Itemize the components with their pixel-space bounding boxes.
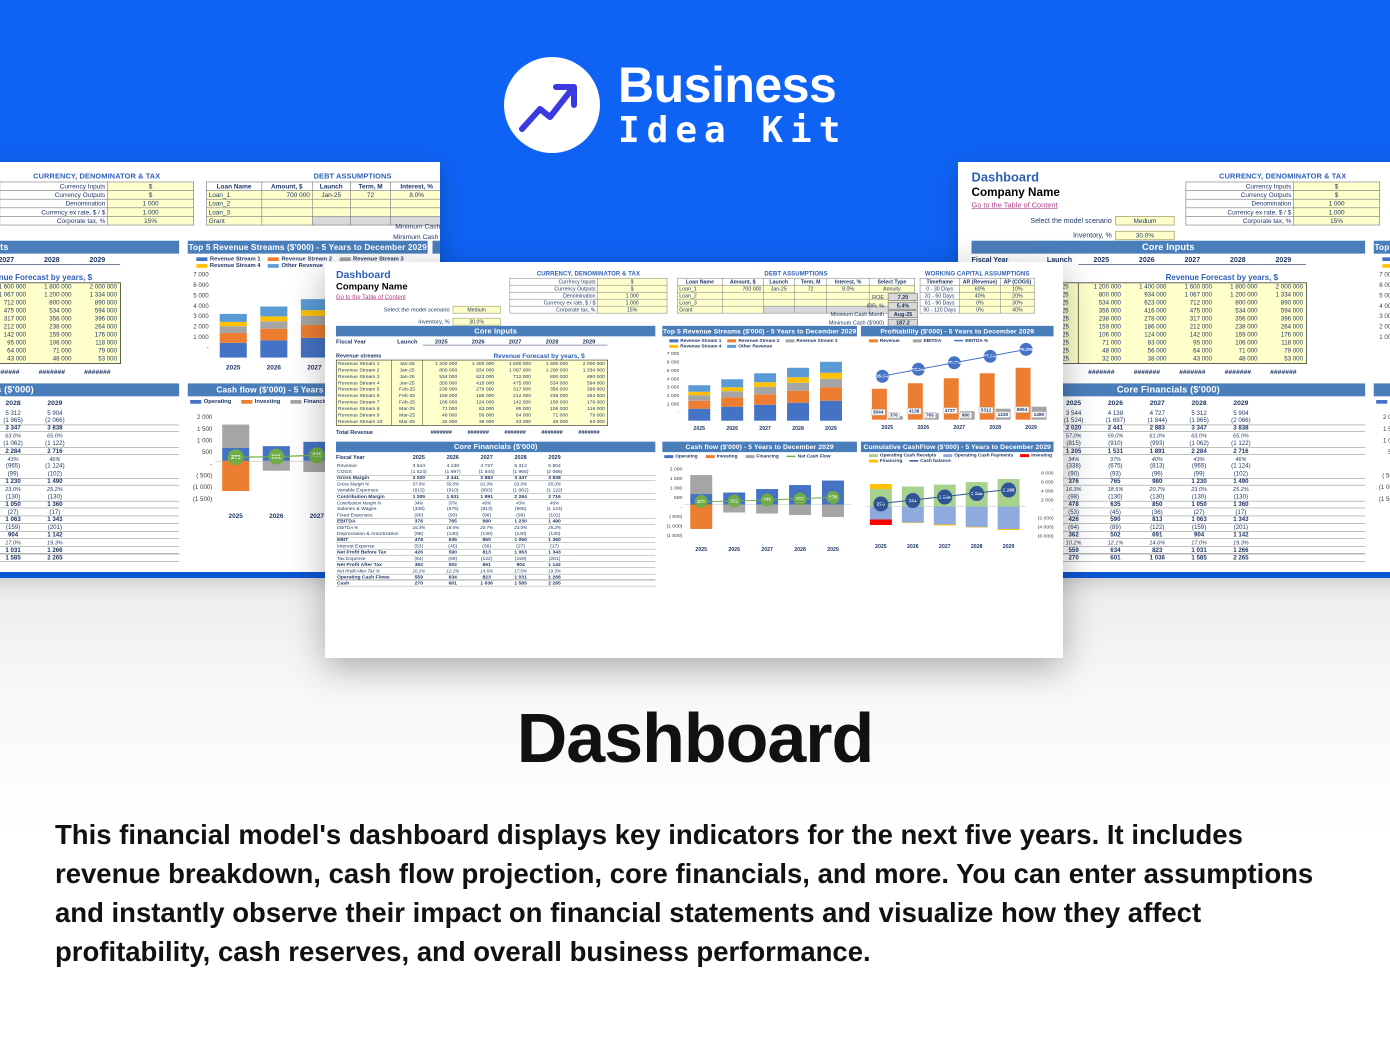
debt-cell[interactable]: 8.0% bbox=[391, 191, 440, 200]
currency-label: Denomination bbox=[0, 199, 107, 208]
total-revenue-label: Total Revenue bbox=[336, 430, 423, 436]
legend-item: Revenue Stream 3 bbox=[785, 338, 837, 343]
currency-value[interactable]: 1 000 bbox=[597, 292, 667, 299]
revenue-cell[interactable]: 712 000 bbox=[1170, 299, 1216, 307]
currency-value[interactable]: $ bbox=[107, 191, 193, 200]
financial-value: 17.0% bbox=[1178, 540, 1220, 546]
wc-cell[interactable]: 40% bbox=[959, 292, 1000, 299]
revenue-cell[interactable]: 159 000 bbox=[29, 331, 75, 339]
table-of-content-link[interactable]: Go to the Table of Content bbox=[336, 293, 406, 300]
debt-cell[interactable] bbox=[794, 306, 827, 313]
revenue-cell[interactable]: 396 000 bbox=[1261, 315, 1307, 323]
net-cash-flow-bubble: 331 bbox=[268, 449, 284, 465]
financial-value: 23.0% bbox=[504, 525, 538, 530]
revenue-cell[interactable]: 71 000 bbox=[29, 347, 75, 355]
column-header: Term, M bbox=[794, 278, 827, 285]
financial-value: 5 904 bbox=[1220, 410, 1262, 417]
profitability-chart: 354437616.3%2025413876518.5%202647279802… bbox=[861, 350, 1054, 437]
revenue-cell[interactable]: 800 000 bbox=[1079, 291, 1125, 299]
year-header: 2027 bbox=[0, 257, 29, 265]
debt-cell[interactable] bbox=[722, 292, 763, 299]
debt-cell[interactable]: Jan-25 bbox=[763, 285, 794, 292]
revenue-cell[interactable]: 53 000 bbox=[1261, 355, 1307, 363]
revenue-cell[interactable]: 2 000 000 bbox=[75, 283, 121, 291]
financial-value: (201) bbox=[538, 556, 572, 561]
row-label: Salaries & Wages bbox=[336, 506, 402, 511]
debt-cell[interactable]: 700 000 bbox=[262, 191, 312, 200]
financial-value: 1 360 bbox=[538, 537, 572, 542]
revenue-cell[interactable]: 356 000 bbox=[1079, 307, 1125, 315]
revenue-cell[interactable]: 712 000 bbox=[0, 299, 29, 307]
revenue-cell[interactable]: 53 000 bbox=[571, 419, 608, 425]
revenue-cell[interactable]: 212 000 bbox=[1170, 323, 1216, 331]
wc-cell[interactable]: 60% bbox=[959, 285, 1000, 292]
kpi-value: 5.4% bbox=[888, 302, 918, 309]
y-axis-tick: 7 000 bbox=[1374, 271, 1390, 278]
financial-value: (130) bbox=[1220, 493, 1262, 500]
legend-label: EBITDA % bbox=[965, 338, 988, 343]
financial-value: 3 838 bbox=[538, 475, 572, 480]
revenue-cell[interactable]: 800 000 bbox=[1215, 299, 1261, 307]
revenue-cell[interactable]: 106 000 bbox=[1215, 339, 1261, 347]
top5-revenue-band: Top 5 Revenue Streams ($'000) - 5 Years … bbox=[188, 241, 428, 254]
revenue-cell[interactable]: 623 000 bbox=[1124, 299, 1170, 307]
legend-item: Investing bbox=[706, 454, 738, 459]
legend-item: EBITDA % bbox=[954, 338, 988, 343]
revenue-cell[interactable]: 48 000 bbox=[1079, 347, 1125, 355]
revenue-cell[interactable]: 159 000 bbox=[1079, 323, 1125, 331]
revenue-cell[interactable]: 475 000 bbox=[1170, 307, 1216, 315]
core-financials-year-row: Fiscal Year20252026202720282029 bbox=[0, 399, 76, 406]
revenue-cell[interactable]: 48 000 bbox=[1215, 355, 1261, 363]
table-row: Denomination1 000 bbox=[510, 292, 667, 299]
total-revenue-value: ####### bbox=[1079, 369, 1125, 376]
stacked-bar-segment bbox=[688, 385, 710, 392]
financial-value: 1 343 bbox=[1220, 516, 1262, 523]
column-header: Loan Name bbox=[678, 278, 723, 285]
financial-value: 1 050 bbox=[0, 501, 34, 508]
stacked-bar-segment bbox=[754, 387, 776, 394]
revenue-cell[interactable]: 317 000 bbox=[1170, 315, 1216, 323]
financial-value: (1 524) bbox=[402, 469, 436, 474]
revenue-cell[interactable]: 934 000 bbox=[1124, 291, 1170, 299]
financial-value: (89) bbox=[436, 556, 470, 561]
revenue-cell[interactable]: 64 000 bbox=[1170, 347, 1216, 355]
financial-value: 1 266 bbox=[538, 574, 572, 579]
financial-value: 1 142 bbox=[1220, 532, 1262, 539]
scenario-row: Select the model scenarioMedium bbox=[336, 306, 501, 313]
table-row: Depreciation & Amortization(98)(130)(130… bbox=[0, 493, 179, 501]
revenue-cell[interactable]: 1 334 000 bbox=[1261, 291, 1307, 299]
debt-cell[interactable] bbox=[350, 216, 390, 225]
revenue-cell[interactable]: 1 200 000 bbox=[1079, 283, 1125, 291]
net-cash-flow-bubble: 435 bbox=[309, 447, 325, 463]
currency-value[interactable]: $ bbox=[597, 278, 667, 285]
debt-cell[interactable]: Loan_3 bbox=[206, 208, 261, 217]
operating-payments-bar bbox=[902, 507, 924, 523]
revenue-cell[interactable]: 890 000 bbox=[1261, 299, 1307, 307]
debt-cell[interactable]: 72 bbox=[350, 191, 390, 200]
page-description: This financial model's dashboard display… bbox=[55, 815, 1340, 971]
revenue-cell[interactable]: 238 000 bbox=[1079, 315, 1125, 323]
screenshot-front[interactable]: DashboardCompany NameGo to the Table of … bbox=[325, 262, 1063, 658]
scenario-select[interactable]: Medium bbox=[453, 306, 501, 313]
financial-value: 1 360 bbox=[1220, 501, 1262, 508]
debt-cell[interactable] bbox=[794, 299, 827, 306]
revenue-cell[interactable]: 32 000 bbox=[1079, 355, 1125, 363]
table-row: Fixed Expenses(90)(93)(96)(99)(102) bbox=[0, 470, 179, 478]
financial-value: 65.0% bbox=[34, 433, 76, 439]
financial-value: 10.2% bbox=[402, 568, 436, 573]
revenue-cell[interactable]: 71 000 bbox=[1215, 347, 1261, 355]
y-axis-tick: (1 000) bbox=[188, 484, 213, 491]
legend-item: Revenue Stream 2 bbox=[268, 255, 332, 262]
year-header: 2028 bbox=[534, 339, 571, 345]
revenue-year-column: 2 000 0001 334 000890 000594 000396 0002… bbox=[571, 360, 608, 425]
currency-value[interactable]: 1 000 bbox=[107, 199, 193, 208]
kpi-label: Minimum Cash ($'000) bbox=[393, 233, 440, 240]
wc-cell[interactable]: 20% bbox=[1001, 292, 1035, 299]
revenue-cell[interactable]: 238 000 bbox=[1215, 323, 1261, 331]
legend-swatch bbox=[909, 460, 918, 461]
currency-value[interactable]: 1.000 bbox=[107, 208, 193, 217]
financial-value: (910) bbox=[1095, 440, 1137, 447]
x-axis-label: 2026 bbox=[721, 426, 743, 432]
debt-cell[interactable]: 72 bbox=[794, 285, 827, 292]
revenue-cell[interactable]: 534 000 bbox=[29, 307, 75, 315]
x-axis-label: 2027 bbox=[934, 543, 956, 549]
inventory-input[interactable]: 30.0% bbox=[453, 318, 501, 325]
profitability-band: Profitability ($'000) - 5 Years to Decem… bbox=[861, 326, 1054, 336]
debt-cell[interactable] bbox=[312, 216, 350, 225]
currency-value[interactable]: $ bbox=[1293, 182, 1379, 191]
revenue-cell[interactable]: 79 000 bbox=[75, 347, 121, 355]
currency-value[interactable]: 1.000 bbox=[1293, 208, 1379, 217]
legend-swatch bbox=[1376, 400, 1387, 404]
revenue-cell[interactable]: 53 000 bbox=[75, 355, 121, 363]
cumulative-legend: Operating Cash ReceiptsOperating Cash Pa… bbox=[869, 453, 1054, 464]
revenue-cell[interactable]: 95 000 bbox=[0, 339, 29, 347]
revenue-cell[interactable]: 118 000 bbox=[1261, 339, 1307, 347]
revenue-cell[interactable]: 800 000 bbox=[29, 299, 75, 307]
stream-launch[interactable]: Mar-25 bbox=[392, 419, 422, 425]
revenue-cell[interactable]: 43 000 bbox=[0, 355, 29, 363]
debt-cell[interactable]: 700 000 bbox=[722, 285, 763, 292]
legend-label: Revenue Stream 4 bbox=[210, 262, 261, 269]
revenue-cell[interactable]: 38 000 bbox=[460, 419, 497, 425]
revenue-cell[interactable]: 356 000 bbox=[29, 315, 75, 323]
currency-value[interactable]: 15% bbox=[107, 216, 193, 225]
debt-cell[interactable] bbox=[794, 292, 827, 299]
stacked-bar-segment bbox=[688, 409, 710, 421]
stream-name[interactable]: Revenue Stream 10 bbox=[336, 419, 391, 425]
debt-cell[interactable] bbox=[262, 208, 312, 217]
revenue-cell[interactable]: 1 067 000 bbox=[0, 291, 29, 299]
currency-value[interactable]: 15% bbox=[1293, 216, 1379, 225]
revenue-cell[interactable]: 475 000 bbox=[0, 307, 29, 315]
revenue-cell[interactable]: 2 000 000 bbox=[1261, 283, 1307, 291]
revenue-cell[interactable]: 396 000 bbox=[75, 315, 121, 323]
stacked-bar-segment bbox=[787, 377, 809, 382]
revenue-cell[interactable]: 264 000 bbox=[1261, 323, 1307, 331]
y-axis-tick: 2 000 bbox=[662, 467, 682, 472]
revenue-cell[interactable]: 32 000 bbox=[423, 419, 460, 425]
revenue-cell[interactable]: 43 000 bbox=[497, 419, 534, 425]
financial-value: (1 124) bbox=[538, 506, 572, 511]
legend-item: EBITDA bbox=[913, 338, 942, 343]
legend-label: Revenue Stream 1 bbox=[210, 255, 261, 262]
financial-value: 57.0% bbox=[402, 482, 436, 487]
debt-cell[interactable]: Loan_2 bbox=[206, 199, 261, 208]
currency-value[interactable]: 1 000 bbox=[1293, 199, 1379, 208]
revenue-cell[interactable]: 43 000 bbox=[1170, 355, 1216, 363]
scenario-select[interactable]: Medium bbox=[1115, 216, 1174, 225]
revenue-cell[interactable]: 238 000 bbox=[29, 323, 75, 331]
revenue-cell[interactable]: 48 000 bbox=[534, 419, 571, 425]
revenue-forecast-grid: Revenue Stream 1Revenue Stream 2Revenue … bbox=[0, 283, 121, 364]
debt-cell[interactable]: Annuity bbox=[869, 285, 914, 292]
revenue-cell[interactable]: 79 000 bbox=[1261, 347, 1307, 355]
table-row: Currency Outputs$ bbox=[0, 191, 194, 200]
financial-value: 2 716 bbox=[1220, 448, 1262, 455]
currency-value[interactable]: $ bbox=[597, 285, 667, 292]
financial-value: 2 265 bbox=[538, 580, 572, 585]
financial-value: 634 bbox=[1095, 547, 1137, 554]
currency-value[interactable]: 1.000 bbox=[597, 299, 667, 306]
y-axis-tick: 4 000 bbox=[188, 303, 209, 310]
revenue-cell[interactable]: 212 000 bbox=[0, 323, 29, 331]
revenue-cell[interactable]: 278 000 bbox=[1124, 315, 1170, 323]
kpi-row: Minimum Cash MonthAug-25 bbox=[829, 310, 918, 318]
x-axis-label: 2026 bbox=[260, 364, 287, 371]
core-inputs-band: Core Inputs bbox=[336, 326, 655, 336]
revenue-cell[interactable]: 534 000 bbox=[1215, 307, 1261, 315]
ebitda-data-label: 765 bbox=[924, 412, 936, 418]
financial-value: (1 965) bbox=[504, 469, 538, 474]
revenue-cell[interactable]: 176 000 bbox=[1261, 331, 1307, 339]
financial-value: 1 031 bbox=[1178, 547, 1220, 554]
revenue-cell[interactable]: 890 000 bbox=[75, 299, 121, 307]
financial-value: 1 266 bbox=[34, 547, 76, 554]
y-axis-tick: (1 000) bbox=[1374, 484, 1390, 491]
currency-block: CURRENCY, DENOMINATOR & TAXCurrency Inpu… bbox=[0, 172, 194, 226]
debt-cell[interactable] bbox=[722, 306, 763, 313]
core-financials-table: Revenue3 5444 1384 7275 3125 904COGS(1 5… bbox=[0, 409, 179, 561]
debt-cell[interactable]: Loan_3 bbox=[678, 299, 723, 306]
legend-label: Investing bbox=[717, 454, 738, 459]
revenue-cell[interactable]: 594 000 bbox=[75, 307, 121, 315]
financial-value: 1 343 bbox=[34, 516, 76, 523]
revenue-cell[interactable]: 142 000 bbox=[1170, 331, 1216, 339]
revenue-cell[interactable]: 1 400 000 bbox=[1124, 283, 1170, 291]
y-axis-tick: 6 000 bbox=[662, 359, 679, 364]
revenue-cell[interactable]: 1 200 000 bbox=[29, 291, 75, 299]
financial-value: (1 965) bbox=[1178, 417, 1220, 424]
financial-value: 813 bbox=[1136, 516, 1178, 523]
revenue-cell[interactable]: 416 000 bbox=[1124, 307, 1170, 315]
revenue-cell[interactable]: 264 000 bbox=[75, 323, 121, 331]
revenue-cell[interactable]: 1 800 000 bbox=[1215, 283, 1261, 291]
y-axis-tick: 1 000 bbox=[1374, 334, 1390, 341]
cash-flow-band: Cash flow ($'000) - 5 Years to December … bbox=[662, 442, 857, 452]
revenue-cell[interactable]: 1 334 000 bbox=[75, 291, 121, 299]
debt-cell[interactable]: Grant bbox=[678, 306, 723, 313]
financial-value: (1 965) bbox=[0, 417, 34, 424]
year-header: 2029 bbox=[538, 455, 572, 461]
kpi-row: IRR, %5.4% bbox=[393, 211, 440, 221]
brand-logo: Business Idea Kit bbox=[504, 53, 904, 156]
legend-swatch bbox=[268, 257, 279, 261]
financial-value: (675) bbox=[436, 506, 470, 511]
revenue-cell[interactable]: 48 000 bbox=[29, 355, 75, 363]
financial-value: 20.7% bbox=[1136, 486, 1178, 492]
stacked-bar-segment bbox=[721, 407, 743, 421]
financial-value: 426 bbox=[402, 550, 436, 555]
currency-label: Currency Outputs bbox=[0, 191, 107, 200]
revenue-cell[interactable]: 118 000 bbox=[75, 339, 121, 347]
stacked-bar-segment bbox=[220, 314, 247, 322]
legend-swatch bbox=[943, 454, 952, 457]
total-revenue-value: ####### bbox=[423, 430, 460, 436]
revenue-cell[interactable]: 64 000 bbox=[0, 347, 29, 355]
total-revenue-value: ####### bbox=[1215, 369, 1261, 376]
wc-cell[interactable]: 0% bbox=[959, 299, 1000, 306]
cash-balance-bubble: 601 bbox=[905, 493, 920, 508]
table-row: Currency ex rate, $ / $1.000 bbox=[510, 299, 667, 306]
y-axis-tick: 500 bbox=[662, 495, 682, 500]
table-of-content-link[interactable]: Go to the Table of Content bbox=[972, 201, 1058, 210]
revenue-cell[interactable]: 1 067 000 bbox=[1170, 291, 1216, 299]
debt-caption: DEBT ASSUMPTIONS bbox=[677, 270, 915, 277]
x-axis-label: 2025 bbox=[220, 364, 247, 371]
debt-cell[interactable]: Loan_1 bbox=[678, 285, 723, 292]
revenue-cell[interactable]: 106 000 bbox=[1079, 331, 1125, 339]
revenue-cell[interactable]: 83 000 bbox=[1124, 339, 1170, 347]
stacked-bar-segment bbox=[301, 316, 328, 325]
debt-cell[interactable] bbox=[312, 208, 350, 217]
debt-cell[interactable] bbox=[262, 199, 312, 208]
revenue-cell[interactable]: 95 000 bbox=[1170, 339, 1216, 347]
currency-value[interactable]: $ bbox=[107, 182, 193, 191]
legend-label: Operating Cash Payments bbox=[954, 453, 1013, 458]
revenue-cell[interactable]: 534 000 bbox=[1079, 299, 1125, 307]
financial-value: (27) bbox=[504, 543, 538, 548]
inventory-input[interactable]: 30.0% bbox=[1115, 231, 1174, 240]
year-header: 2027 bbox=[1136, 399, 1178, 406]
revenue-cell[interactable]: 1 600 000 bbox=[1170, 283, 1216, 291]
revenue-cell[interactable]: 1 200 000 bbox=[1215, 291, 1261, 299]
revenue-cell[interactable]: 56 000 bbox=[1124, 347, 1170, 355]
currency-value[interactable]: 15% bbox=[597, 306, 667, 313]
revenue-cell[interactable]: 1 600 000 bbox=[0, 283, 29, 291]
column-header: AP (COGS) bbox=[1001, 278, 1035, 285]
y-axis-tick: 2 000 bbox=[188, 324, 209, 331]
debt-cell[interactable]: Jan-25 bbox=[312, 191, 350, 200]
year-header: 2029 bbox=[75, 257, 121, 265]
financial-value: 5 312 bbox=[1178, 410, 1220, 417]
revenue-cell[interactable]: 106 000 bbox=[29, 339, 75, 347]
revenue-cell[interactable]: 71 000 bbox=[1079, 339, 1125, 347]
debt-cell[interactable] bbox=[722, 299, 763, 306]
row-label: Tax Expense bbox=[336, 556, 402, 561]
y-axis-tick: - bbox=[1031, 507, 1054, 512]
revenue-cell[interactable]: 317 000 bbox=[0, 315, 29, 323]
revenue-cell[interactable]: 356 000 bbox=[1215, 315, 1261, 323]
debt-cell[interactable]: 8.0% bbox=[827, 285, 869, 292]
column-header: Term, M bbox=[350, 182, 390, 191]
year-header: 2028 bbox=[0, 399, 34, 406]
y-axis-tick: (2 000) bbox=[1031, 515, 1054, 520]
revenue-cell[interactable]: 594 000 bbox=[1261, 307, 1307, 315]
row-label: EBITDA bbox=[336, 519, 402, 524]
wc-cell[interactable]: 30% bbox=[1001, 299, 1035, 306]
currency-table: Currency Inputs$Currency Outputs$Denomin… bbox=[510, 278, 668, 313]
financial-value: 590 bbox=[436, 550, 470, 555]
debt-cell[interactable]: Loan_2 bbox=[678, 292, 723, 299]
legend-item: Operating bbox=[190, 398, 231, 405]
revenue-cell[interactable]: 1 800 000 bbox=[29, 283, 75, 291]
legend-swatch bbox=[196, 264, 207, 268]
revenue-cell[interactable]: 142 000 bbox=[0, 331, 29, 339]
wc-cell[interactable]: 40% bbox=[1001, 306, 1035, 313]
debt-cell[interactable] bbox=[763, 292, 794, 299]
revenue-cell[interactable]: 124 000 bbox=[1124, 331, 1170, 339]
y-axis-tick: 6 000 bbox=[1374, 282, 1390, 289]
wc-cell[interactable]: 10% bbox=[1001, 285, 1035, 292]
y-axis-tick: (4 000) bbox=[1031, 524, 1054, 529]
year-header: 2025 bbox=[423, 339, 460, 345]
year-header: 2027 bbox=[497, 339, 534, 345]
debt-cell[interactable] bbox=[350, 208, 390, 217]
operating-payments-bar bbox=[934, 507, 956, 525]
debt-cell[interactable]: Grant bbox=[206, 216, 261, 225]
financial-value: 1 063 bbox=[0, 516, 34, 523]
sheet-title: Dashboard bbox=[972, 171, 1175, 186]
ebitda-data-label: 376 bbox=[888, 412, 900, 418]
y-axis-tick: 2 000 bbox=[662, 393, 679, 398]
currency-value[interactable]: $ bbox=[1293, 191, 1379, 200]
y-axis-tick: 1 000 bbox=[188, 438, 213, 445]
revenue-cell[interactable]: 176 000 bbox=[75, 331, 121, 339]
column-header: Amount, $ bbox=[262, 182, 312, 191]
financial-value: 850 bbox=[1136, 501, 1178, 508]
currency-label: Corporate tax, % bbox=[510, 306, 597, 313]
financial-value: 1 531 bbox=[1095, 448, 1137, 455]
debt-cell[interactable] bbox=[763, 299, 794, 306]
revenue-cell[interactable]: 186 000 bbox=[1124, 323, 1170, 331]
legend-item: Operating bbox=[664, 454, 697, 459]
financial-value: (27) bbox=[0, 509, 34, 516]
debt-cell[interactable]: Loan_1 bbox=[206, 191, 261, 200]
inventory-label: Inventory, % bbox=[1073, 232, 1112, 239]
financial-value: 3 347 bbox=[0, 425, 34, 432]
financial-value: 5 904 bbox=[34, 410, 76, 417]
revenue-cell[interactable]: 38 000 bbox=[1124, 355, 1170, 363]
financial-value: 46% bbox=[1220, 456, 1262, 462]
revenue-cell[interactable]: 159 000 bbox=[1215, 331, 1261, 339]
y-axis-tick: 1 500 bbox=[1374, 426, 1390, 433]
wc-cell[interactable]: 0% bbox=[959, 306, 1000, 313]
financial-value: (130) bbox=[436, 531, 470, 536]
debt-cell[interactable] bbox=[312, 199, 350, 208]
kpi-value: 7.20 bbox=[888, 293, 918, 300]
year-header: 2025 bbox=[402, 455, 436, 461]
debt-cell[interactable] bbox=[763, 306, 794, 313]
debt-cell[interactable] bbox=[262, 216, 312, 225]
stacked-bar-segment bbox=[787, 391, 809, 403]
debt-cell[interactable] bbox=[350, 199, 390, 208]
x-axis-label: 2029 bbox=[1016, 425, 1047, 431]
